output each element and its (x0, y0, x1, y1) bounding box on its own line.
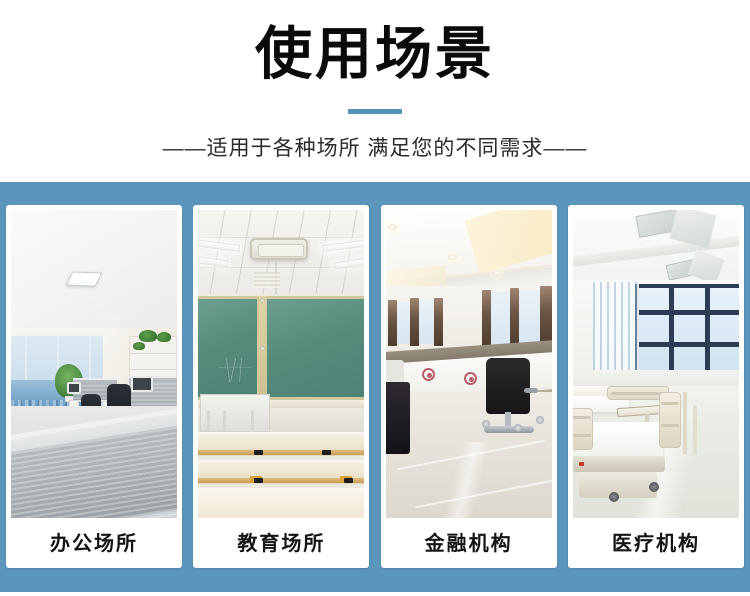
scenario-card-office[interactable]: 办公场所 (6, 205, 182, 568)
scenario-card-finance[interactable]: 金融机构 (381, 205, 557, 568)
scenario-card-grid: 办公场所 (6, 205, 744, 568)
scenario-card-education[interactable]: 教育场所 (193, 205, 369, 568)
scenario-label-office: 办公场所 (11, 518, 177, 568)
scenarios-band: 办公场所 (0, 182, 750, 592)
scenario-label-finance: 金融机构 (386, 518, 552, 568)
scenario-label-education: 教育场所 (198, 518, 364, 568)
office-scene-image (11, 210, 177, 518)
scenario-card-medical[interactable]: 医疗机构 (568, 205, 744, 568)
page-title: 使用场景 (0, 22, 750, 86)
page-subtitle: ——适用于各种场所 满足您的不同需求—— (0, 134, 750, 164)
classroom-scene-image (198, 210, 364, 518)
title-accent-divider (348, 109, 402, 114)
hospital-scene-image (573, 210, 739, 518)
usage-scenarios-page: 使用场景 ——适用于各种场所 满足您的不同需求—— (0, 0, 750, 596)
page-header: 使用场景 ——适用于各种场所 满足您的不同需求—— (0, 0, 750, 182)
scenario-label-medical: 医疗机构 (573, 518, 739, 568)
bank-scene-image (386, 210, 552, 518)
